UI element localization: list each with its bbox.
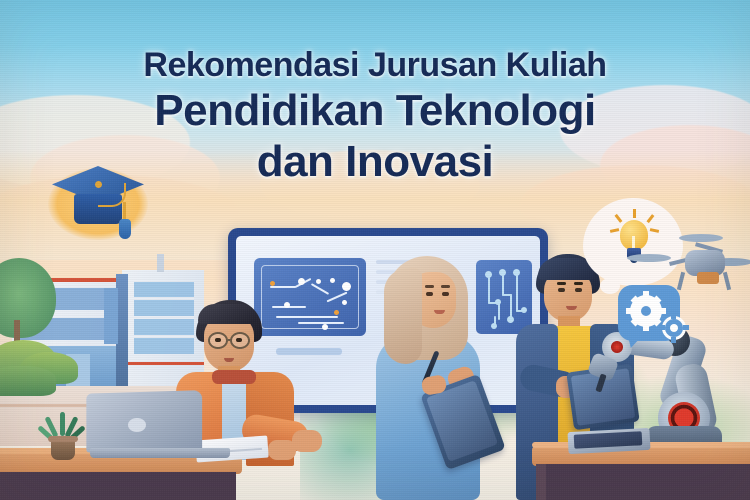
gear-tooth bbox=[643, 323, 649, 331]
right-desk-leg bbox=[536, 464, 546, 500]
gear-tooth bbox=[658, 308, 666, 314]
right-desk-front bbox=[540, 464, 750, 500]
potted-plant bbox=[40, 412, 86, 460]
diagram-node bbox=[342, 300, 347, 305]
student-male-hair-front bbox=[538, 258, 594, 280]
gear-tooth bbox=[671, 337, 676, 343]
plant-leaf bbox=[60, 412, 65, 436]
gear-tooth bbox=[626, 308, 634, 314]
laptop-student-hair-front bbox=[198, 304, 256, 324]
building-corner-glass bbox=[104, 288, 118, 344]
student-male-brow bbox=[574, 282, 583, 285]
left-desk-front bbox=[0, 472, 236, 500]
diagram-node bbox=[322, 324, 328, 330]
laptop-student-hand bbox=[292, 430, 322, 452]
diagram-node bbox=[330, 278, 335, 283]
gear-hole bbox=[670, 324, 678, 332]
drone-leg bbox=[723, 272, 731, 290]
student-female-eye bbox=[426, 292, 433, 296]
bush bbox=[0, 366, 56, 396]
gear-tooth bbox=[659, 325, 665, 330]
drone-rotor bbox=[679, 234, 723, 242]
lightbulb-ray bbox=[610, 228, 619, 232]
title-line-1: Rekomendasi Jurusan Kuliah bbox=[0, 44, 750, 86]
diagram-node-accent bbox=[270, 281, 275, 286]
gear-tooth bbox=[643, 291, 649, 299]
diagram-trace bbox=[270, 286, 296, 288]
gear-hole bbox=[641, 306, 651, 316]
title-line-3: dan Inovasi bbox=[0, 136, 750, 188]
cap-tassel-cord bbox=[123, 202, 126, 220]
student-male-eye bbox=[575, 288, 582, 292]
laptop-logo bbox=[128, 418, 146, 432]
student-female-hijab bbox=[370, 250, 500, 500]
laptop-student-eye bbox=[236, 338, 242, 342]
cap-tassel bbox=[119, 219, 131, 239]
page-title: Rekomendasi Jurusan Kuliah Pendidikan Te… bbox=[0, 44, 750, 188]
diagram-node bbox=[298, 278, 305, 285]
laptop-student-collar bbox=[212, 370, 256, 384]
building-right-antenna bbox=[157, 254, 164, 272]
diagram-node bbox=[342, 282, 351, 291]
plant-pot-rim bbox=[48, 436, 78, 442]
drone-camera bbox=[697, 272, 719, 284]
idea-bubble-tail bbox=[600, 278, 620, 294]
drone-icon bbox=[655, 228, 750, 303]
student-male-brow bbox=[557, 282, 566, 285]
circuit-node bbox=[499, 269, 506, 276]
student-female-eye bbox=[442, 292, 449, 296]
student-male-eye bbox=[558, 288, 565, 292]
drone-leg bbox=[677, 272, 685, 290]
robot-joint-red-core bbox=[611, 341, 623, 353]
lightbulb-ray bbox=[614, 214, 622, 223]
lightbulb-ray bbox=[633, 209, 636, 218]
laptop-student-eye bbox=[215, 338, 221, 342]
drone-rotor bbox=[627, 254, 671, 262]
student-female-brow bbox=[425, 285, 434, 288]
laptop[interactable] bbox=[82, 392, 242, 462]
promo-illustration: Rekomendasi Jurusan Kuliah Pendidikan Te… bbox=[0, 0, 750, 500]
gear-tooth bbox=[671, 313, 676, 319]
diagram-node bbox=[316, 279, 321, 284]
student-female-brow bbox=[441, 285, 450, 288]
laptop-base bbox=[90, 448, 230, 458]
gear-tooth bbox=[683, 325, 689, 330]
hijab-drape bbox=[384, 268, 422, 364]
glasses-bridge bbox=[228, 339, 232, 341]
diagram-node-accent bbox=[334, 310, 339, 315]
gear-small-icon bbox=[662, 316, 686, 340]
title-line-2: Pendidikan Teknologi bbox=[0, 86, 750, 136]
lightbulb-ray bbox=[646, 214, 654, 223]
laptop-student-hand bbox=[268, 440, 296, 460]
